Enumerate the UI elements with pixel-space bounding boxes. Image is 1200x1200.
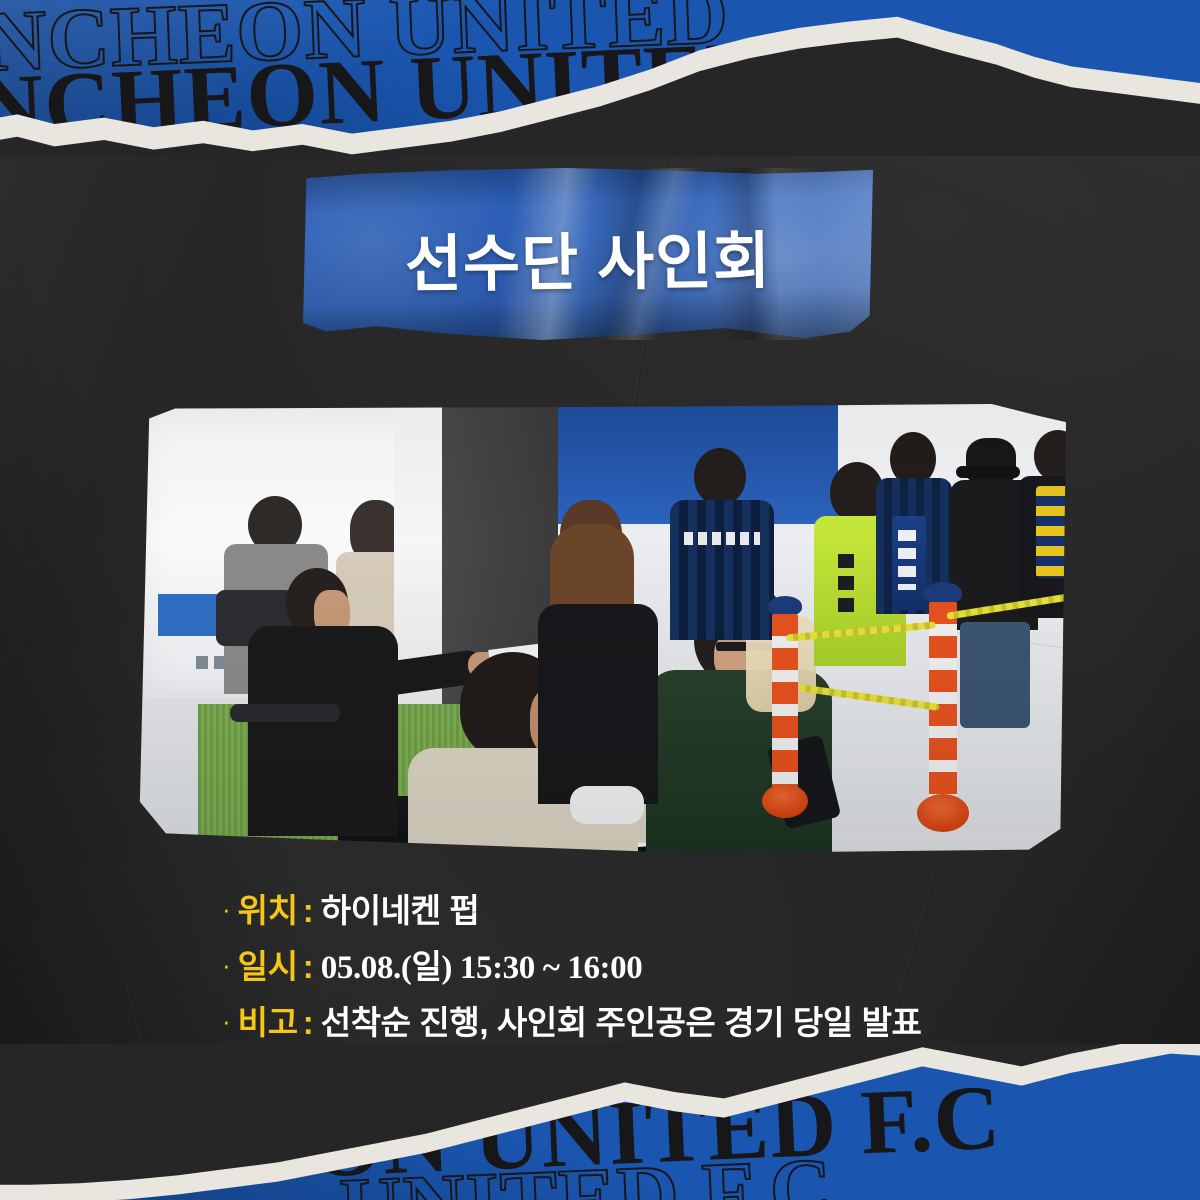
photo-bollard-1-base (762, 784, 808, 818)
detail-value-location: 하이네켄 펍 (321, 884, 480, 932)
detail-colon-datetime: : (303, 948, 314, 986)
photo-bollard-1 (768, 596, 802, 816)
photo-poster-blue-block (158, 594, 218, 636)
detail-line-location: · 위치 : 하이네켄 펍 (222, 884, 1082, 932)
photo-fan-scarf-stripes (1036, 486, 1066, 578)
bullet-icon-location: · (222, 896, 231, 922)
photo-jersey-sponsor-text (684, 532, 760, 545)
bullet-icon-datetime: · (222, 952, 231, 978)
photo-fan-jersey-head (694, 448, 746, 506)
detail-colon-location: : (303, 892, 314, 930)
detail-label-notes: 비고 (238, 996, 298, 1044)
photo-volunteer-vest-text (838, 554, 854, 620)
photo-fan-longhair-shoe (570, 786, 644, 824)
photo-fan-longhair-body (538, 604, 658, 804)
photo-player-left-body (248, 626, 398, 836)
detail-colon-notes: : (303, 1004, 314, 1042)
photo-bollard-2-post (929, 602, 958, 800)
poster-canvas: INCHEON UNITED INCHEON UNITED ON UNITED … (0, 0, 1200, 1200)
bottom-torn-strip: ON UNITED F.C UNITED F.C (0, 1044, 1200, 1200)
photo-bollard-3-base (1063, 708, 1066, 736)
detail-line-datetime: · 일시 : 05.08.(일) 15:30 ~ 16:00 (222, 940, 1082, 988)
photo-bollard-2-cap (924, 582, 962, 604)
detail-label-datetime: 일시 (238, 940, 298, 988)
bullet-icon-notes: · (222, 1008, 231, 1034)
top-torn-strip: INCHEON UNITED INCHEON UNITED (0, 0, 1200, 156)
page-title: 선수단 사인회 (303, 209, 874, 305)
detail-value-datetime: 05.08.(일) 15:30 ~ 16:00 (321, 940, 643, 988)
detail-line-notes: · 비고 : 선착순 진행, 사인회 주인공은 경기 당일 발표 (222, 996, 1082, 1044)
photo-fan-jersey-body (670, 500, 774, 640)
event-photo (138, 404, 1066, 856)
photo-bollard-2-base (917, 794, 969, 832)
photo-chair-left (230, 704, 340, 722)
photo-bollard-1-cap (768, 596, 802, 616)
event-details: · 위치 : 하이네켄 펍 · 일시 : 05.08.(일) 15:30 ~ 1… (222, 884, 1082, 1052)
title-banner: 선수단 사인회 (303, 168, 873, 340)
photo-fan-cap-brim (956, 466, 1020, 478)
detail-label-location: 위치 (238, 884, 298, 932)
photo-scarf-text (898, 530, 916, 590)
photo-fan-cap-jeans (960, 622, 1030, 728)
detail-value-notes: 선착순 진행, 사인회 주인공은 경기 당일 발표 (321, 996, 922, 1044)
